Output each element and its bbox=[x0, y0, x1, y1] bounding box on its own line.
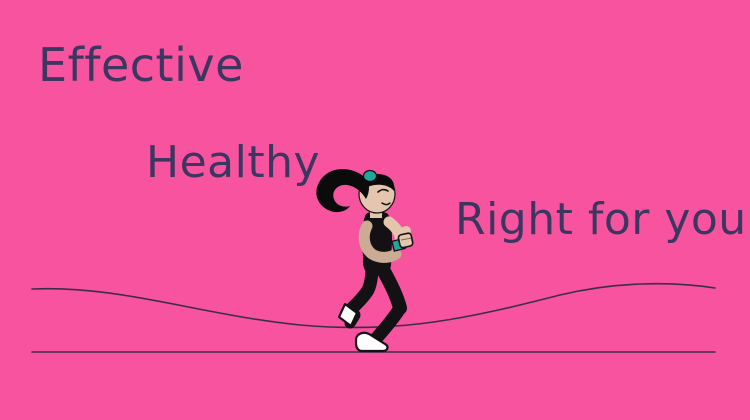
runner-fist bbox=[398, 233, 413, 248]
headline-right-for-you: Right for you bbox=[455, 198, 747, 242]
headline-healthy: Healthy bbox=[146, 141, 320, 185]
headline-effective: Effective bbox=[38, 42, 244, 88]
runner-figure bbox=[316, 169, 413, 351]
promo-graphic-canvas: Effective Healthy Right for you bbox=[0, 0, 750, 420]
runner-ponytail bbox=[316, 169, 369, 212]
runner-hair-tie bbox=[364, 171, 377, 182]
